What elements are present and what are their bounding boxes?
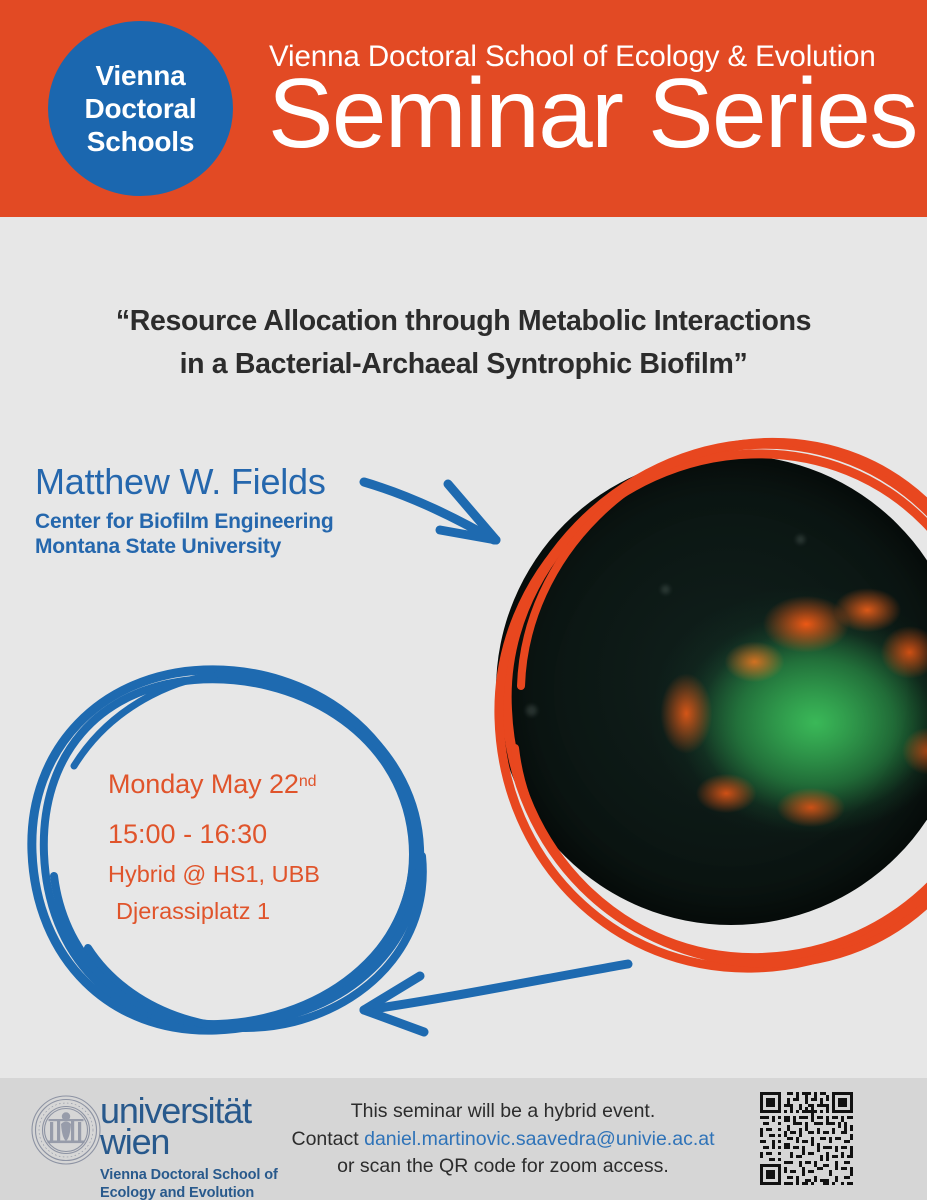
- footer-contact-line: Contact daniel.martinovic.saavedra@univi…: [248, 1126, 758, 1154]
- speaker-name: Matthew W. Fields: [35, 462, 334, 502]
- event-date: Monday May 22nd: [108, 770, 378, 800]
- arrow-to-image-icon: [352, 462, 522, 557]
- microscopy-speck: [796, 535, 805, 544]
- badge-line-2: Doctoral: [85, 92, 197, 125]
- event-time: 15:00 - 16:30: [108, 820, 378, 850]
- event-details: Monday May 22nd 15:00 - 16:30 Hybrid @ H…: [108, 770, 378, 925]
- event-venue: Hybrid @ HS1, UBB: [108, 862, 378, 888]
- footer-note: This seminar will be a hybrid event. Con…: [248, 1098, 758, 1181]
- badge-line-1: Vienna: [95, 59, 185, 92]
- talk-title-line-2: in a Bacterial-Archaeal Syntrophic Biofi…: [0, 343, 927, 386]
- event-date-text: Monday May 22: [108, 769, 299, 799]
- footer-note-line-1: This seminar will be a hybrid event.: [248, 1098, 758, 1126]
- talk-title: “Resource Allocation through Metabolic I…: [0, 300, 927, 387]
- talk-title-line-1: “Resource Allocation through Metabolic I…: [0, 300, 927, 343]
- seminar-poster: Vienna Doctoral Schools Vienna Doctoral …: [0, 0, 927, 1200]
- qr-code[interactable]: [757, 1089, 856, 1188]
- header-band: Vienna Doctoral Schools Vienna Doctoral …: [0, 0, 927, 217]
- event-address: Djerassiplatz 1: [116, 899, 378, 925]
- vienna-doctoral-schools-badge: Vienna Doctoral Schools: [48, 21, 233, 196]
- doctoral-school-line-2: Ecology and Evolution: [100, 1185, 278, 1200]
- event-date-ordinal: nd: [299, 773, 317, 790]
- university-seal-icon: [30, 1094, 102, 1166]
- microscopy-disc: [496, 455, 927, 925]
- microscopy-image: [496, 455, 927, 925]
- badge-line-3: Schools: [87, 125, 195, 158]
- speaker-affiliation-line-1: Center for Biofilm Engineering: [35, 509, 334, 535]
- speaker-block: Matthew W. Fields Center for Biofilm Eng…: [35, 462, 334, 560]
- arrow-to-details-icon: [340, 950, 640, 1040]
- header-title: Seminar Series: [268, 64, 917, 162]
- speaker-affiliation-line-2: Montana State University: [35, 534, 334, 560]
- footer-note-line-3: or scan the QR code for zoom access.: [248, 1153, 758, 1181]
- footer-contact-prefix: Contact: [291, 1128, 364, 1150]
- microscopy-speck: [661, 585, 670, 594]
- contact-email-link[interactable]: daniel.martinovic.saavedra@univie.ac.at: [364, 1128, 714, 1150]
- microscopy-speck: [526, 705, 537, 716]
- speaker-affiliation: Center for Biofilm Engineering Montana S…: [35, 509, 334, 560]
